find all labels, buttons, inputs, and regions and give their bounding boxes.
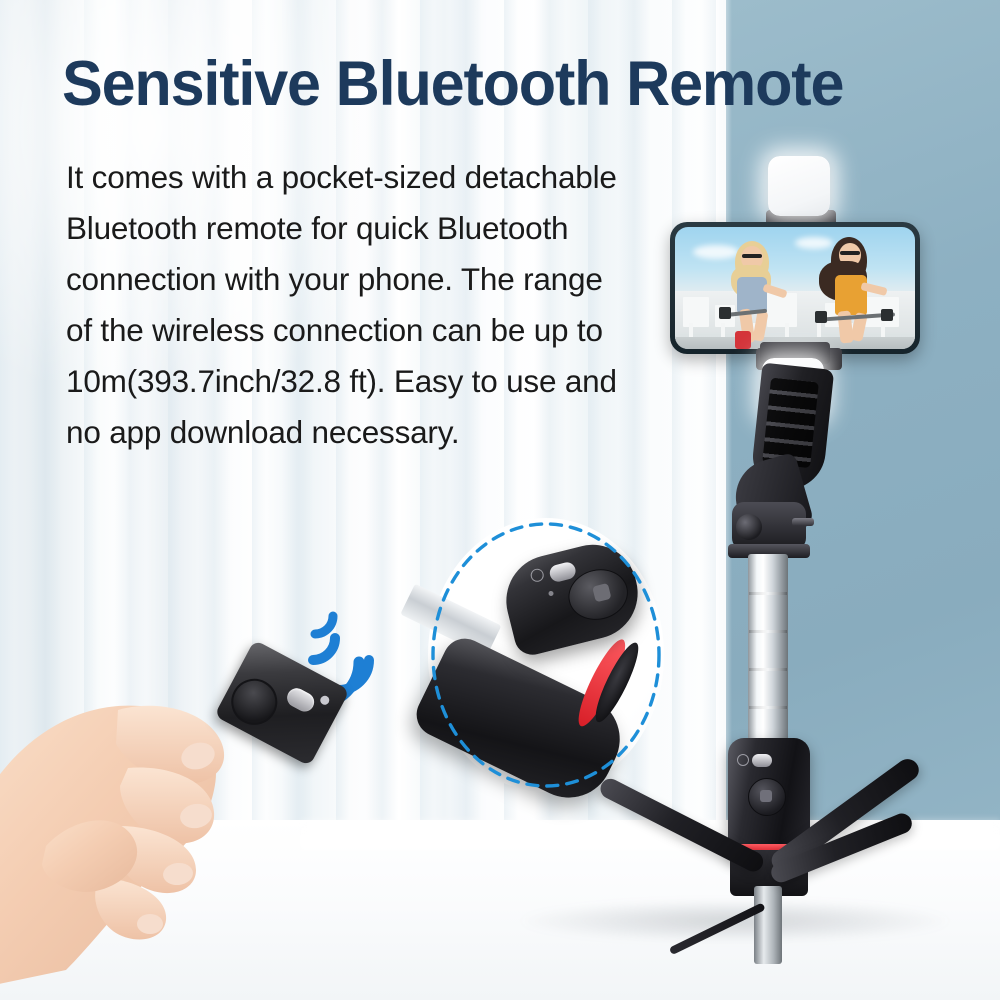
building [683, 297, 709, 327]
pole-segment-joint [749, 668, 787, 671]
selfie-stick-tripod [540, 130, 960, 960]
telescoping-pole [748, 554, 788, 750]
joint-lock-knob[interactable] [736, 514, 762, 540]
handle-power-switch[interactable] [752, 754, 772, 767]
page-title: Sensitive Bluetooth Remote [62, 52, 935, 118]
product-marketing-image: Sensitive Bluetooth Remote It comes with… [0, 0, 1000, 1000]
tripod-leg-brace [669, 902, 766, 955]
pole-segment-joint [749, 706, 787, 709]
leg [752, 310, 768, 341]
pole-segment-joint [749, 592, 787, 595]
cyclist-left [717, 239, 795, 347]
handlebar-grip [881, 309, 893, 321]
mounted-smartphone [670, 222, 920, 354]
handlebar-grip [719, 307, 731, 319]
joint-tightening-screw[interactable] [792, 518, 814, 526]
torso-overalls [737, 277, 767, 313]
phone-screen [675, 227, 915, 349]
hand-holding-remote [0, 640, 360, 1000]
cyclist-right [811, 235, 895, 347]
center-column-post [754, 886, 782, 964]
handlebar-grip [815, 311, 827, 323]
sunglasses-icon [742, 254, 762, 258]
pole-segment-joint [749, 630, 787, 633]
handle-shutter-icon [760, 790, 772, 802]
torso-dress [835, 275, 867, 315]
handle-power-symbol-icon [737, 754, 749, 766]
sunglasses-icon [840, 251, 860, 255]
led-fill-light-top [768, 156, 830, 216]
bike-frame-red [735, 331, 751, 349]
